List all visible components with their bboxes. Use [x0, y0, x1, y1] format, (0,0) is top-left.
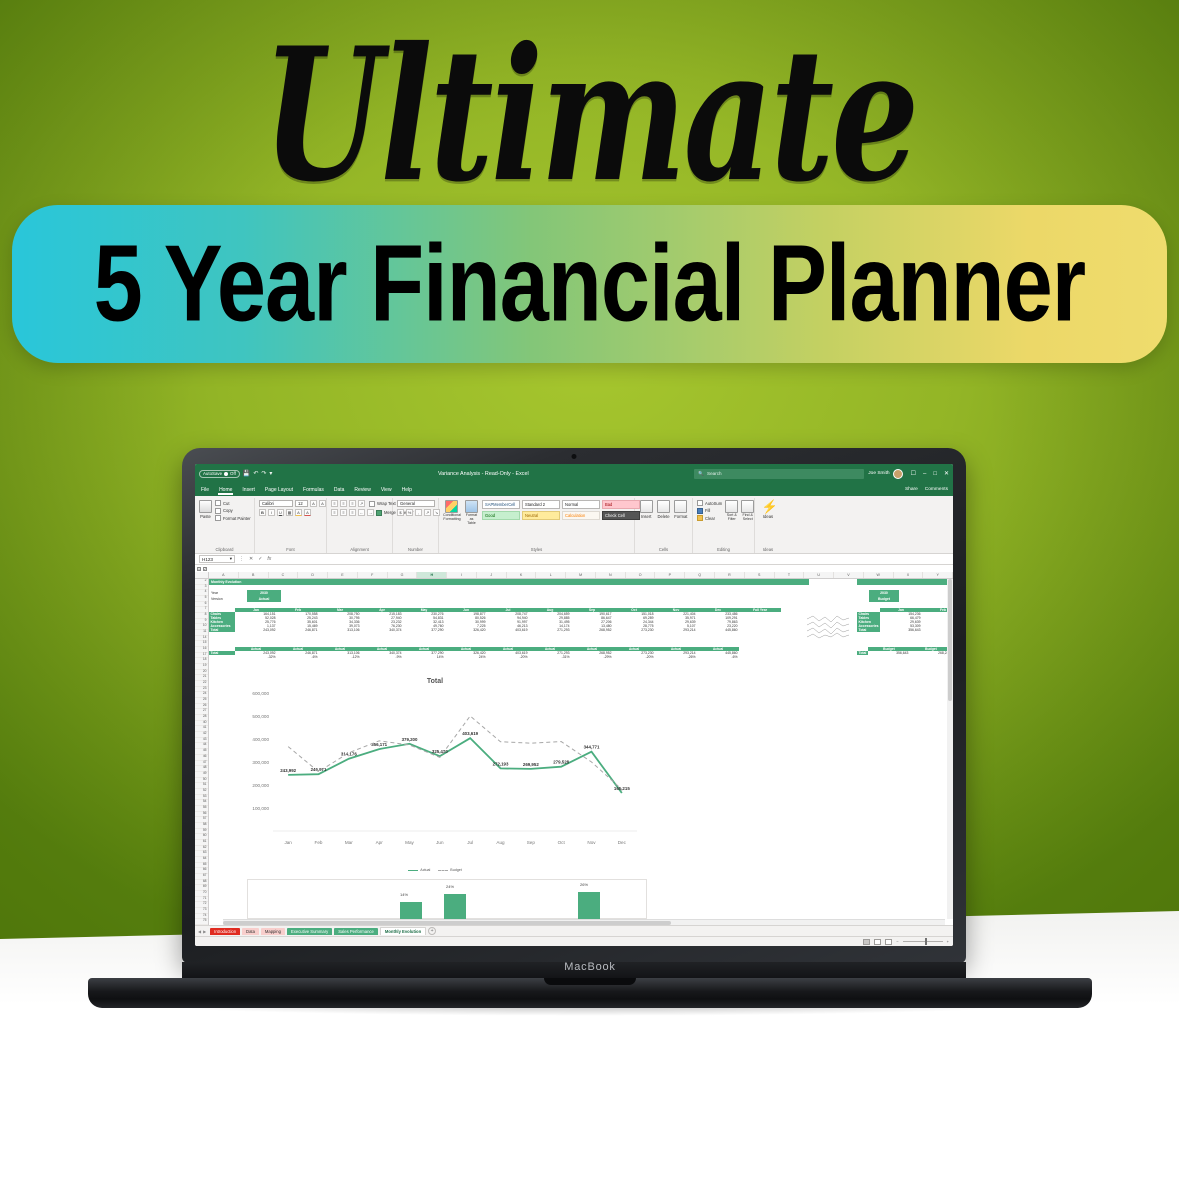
row-label-total: Total [857, 628, 880, 632]
name-box[interactable]: H123 ▾ [199, 555, 235, 563]
outline-level-bar[interactable]: 1 2 [195, 565, 953, 572]
data-label: 246,971 [311, 767, 327, 772]
number-format-select[interactable]: General [397, 500, 435, 507]
data-cell[interactable]: 268,246 [910, 651, 952, 655]
formula-divider: ⋮ [238, 556, 245, 562]
data-cell[interactable]: 273,230 [613, 628, 655, 632]
data-cell[interactable]: 268,952 [571, 628, 613, 632]
comma-icon[interactable]: , [415, 509, 422, 516]
spreadsheet-grid[interactable]: 1 2 ABCDEFGHIJKLMNOPQRSTUVWXY 2345678910… [195, 565, 953, 925]
increase-indent-icon[interactable]: → [367, 509, 374, 516]
currency-icon[interactable]: $ [397, 509, 404, 516]
excel-window: AutoSave Off 💾 ↶ ↷ ▾ Variance Analysis -… [195, 464, 953, 946]
delete-label: Delete [657, 514, 669, 519]
data-label: 165,215 [614, 786, 630, 791]
share-button[interactable]: Share [905, 487, 918, 492]
variance-pct-cell[interactable]: -12% [319, 655, 361, 659]
format-as-table-label: Format as Table [465, 514, 478, 526]
variance-pct-cell[interactable]: -9% [361, 655, 403, 659]
sheet-content[interactable]: Monthly Evolution Year Version 2030 Actu… [209, 579, 953, 925]
data-label: 279,528 [553, 760, 569, 765]
y-axis-tick-label: 500,000 [252, 714, 269, 719]
ribbon-right-actions[interactable]: Share Comments [905, 487, 948, 492]
fill-color-icon[interactable]: A [295, 509, 302, 516]
ribbon-group-editing: AutoSum Fill Clear Sort & Filter Find & … [693, 498, 755, 553]
tab-review[interactable]: Review [353, 487, 371, 493]
conditional-formatting-icon [445, 500, 458, 513]
data-label: 325,420 [432, 749, 448, 754]
variance-pct-cell[interactable]: -29% [571, 655, 613, 659]
device-label: MacBook [88, 961, 1092, 973]
search-input[interactable]: 🔍 Search [694, 469, 864, 479]
function-icon[interactable]: fx [266, 556, 272, 562]
select-all-corner[interactable] [195, 572, 209, 578]
sheet-tab-data[interactable]: Data [242, 928, 259, 935]
bold-button[interactable]: B [259, 509, 266, 516]
paintbrush-icon [215, 515, 221, 521]
find-select-button[interactable]: Find & Select [741, 500, 754, 522]
percent-icon[interactable]: % [406, 509, 413, 516]
window-controls[interactable]: ☐ – □ ✕ [907, 470, 949, 477]
quick-access-toolbar[interactable]: AutoSave Off 💾 ↶ ↷ ▾ [199, 470, 272, 478]
wrap-text-button[interactable]: Wrap Text [369, 501, 396, 507]
row-headers[interactable]: 2345678910111415161718192021222324252627… [195, 579, 209, 925]
sheet-nav-next-icon[interactable]: ▶ [203, 929, 206, 934]
format-painter-button[interactable]: Format Painter [215, 515, 251, 521]
grid-body[interactable]: 2345678910111415161718192021222324252627… [195, 579, 953, 925]
sort-filter-icon [725, 500, 738, 513]
account-area[interactable]: Joe Smith [868, 469, 902, 479]
autosave-label: AutoSave [203, 471, 222, 476]
formula-input[interactable] [275, 555, 949, 563]
cell-style-calculation[interactable]: Calculation [562, 511, 600, 520]
magnifier-icon [741, 500, 754, 513]
sheet-tab-sales-performance[interactable]: Sales Performance [334, 928, 378, 935]
data-cell[interactable]: 445,860 [697, 628, 739, 632]
variance-budget-table-inner[interactable]: BudgetBudgetBudgetBudgetBudgetBudgetBudg… [857, 647, 953, 655]
borders-icon[interactable]: ▦ [286, 509, 293, 516]
variance-budget-table[interactable]: BudgetBudgetBudgetBudgetBudgetBudgetBudg… [857, 647, 953, 655]
column-headers[interactable]: ABCDEFGHIJKLMNOPQRSTUVWXY [195, 572, 953, 579]
format-as-table-icon [465, 500, 478, 513]
status-bar[interactable]: − + [195, 936, 953, 946]
variance-pct-cell[interactable]: 24% [445, 655, 487, 659]
year-label: Year [211, 591, 218, 595]
excel-title-bar: AutoSave Off 💾 ↶ ↷ ▾ Variance Analysis -… [195, 464, 953, 483]
data-cell[interactable]: 356,643 [880, 628, 922, 632]
variance-pct-cell[interactable]: -20% [613, 655, 655, 659]
sheet-tab-bar[interactable]: ◀ ▶ Introduction Data Mapping Executive … [195, 925, 953, 936]
bar-label-24: 24% [446, 884, 454, 889]
sheet-tab-mapping[interactable]: Mapping [261, 928, 285, 935]
variance-pct-cell[interactable]: -32% [235, 655, 277, 659]
month-header-full-year: Full Year [739, 608, 781, 612]
paste-label: Paste [200, 514, 211, 519]
formula-bar[interactable]: H123 ▾ ⋮ ✕ ✓ fx [195, 554, 953, 565]
data-label: 272,193 [493, 761, 509, 766]
column-header-s[interactable]: S [745, 572, 775, 578]
find-select-label: Find & Select [741, 514, 754, 522]
data-cell[interactable]: 271,293 [529, 628, 571, 632]
sort-filter-label: Sort & Filter [725, 514, 738, 522]
format-painter-label: Format Painter [223, 516, 251, 521]
vertical-scrollbar[interactable] [947, 579, 953, 919]
enter-icon[interactable]: ✓ [257, 556, 263, 562]
column-header-p[interactable]: P [655, 572, 685, 578]
maximize-button[interactable]: □ [933, 471, 937, 477]
lightbulb-icon: ⚡ [762, 500, 775, 513]
column-header-c[interactable]: C [269, 572, 299, 578]
paste-icon [199, 500, 212, 513]
font-group-label: Font [259, 547, 322, 553]
page-layout-view-icon[interactable] [874, 939, 881, 945]
column-header-g[interactable]: G [388, 572, 418, 578]
copy-label: Copy [223, 508, 233, 513]
chart-series-budget[interactable] [288, 716, 622, 789]
fill-button[interactable]: Fill [697, 508, 722, 514]
variance-pct-cell[interactable]: -20% [487, 655, 529, 659]
sheet-tab-introduction[interactable]: Introduction [210, 928, 240, 935]
cell-style-good[interactable]: Good [482, 511, 520, 520]
sort-filter-button[interactable]: Sort & Filter [725, 500, 738, 522]
cells-group-label: Cells [639, 547, 688, 553]
ideas-button[interactable]: ⚡ Ideas [759, 500, 777, 519]
tab-page-layout[interactable]: Page Layout [264, 487, 294, 493]
document-title: Variance Analysis - Read-Only - Excel [276, 471, 690, 477]
data-cell[interactable]: 356,643 [868, 651, 910, 655]
data-cell[interactable]: 377,290 [403, 628, 445, 632]
x-axis-tick-label: Feb [315, 840, 323, 845]
cut-button[interactable]: Cut [215, 500, 251, 506]
align-right-icon[interactable]: ≡ [349, 509, 356, 516]
subtitle-banner: 5 Year Financial Planner [12, 205, 1167, 363]
data-cell[interactable]: 243,092 [235, 628, 277, 632]
data-cell[interactable]: 246,871 [277, 628, 319, 632]
data-label: 379,200 [402, 737, 418, 742]
underline-button[interactable]: U [277, 509, 284, 516]
legend-item-budget[interactable]: Budget [438, 868, 461, 872]
variance-total-row[interactable]: Total356,643268,246353,880385,294331,416… [857, 651, 953, 655]
row-header-75[interactable]: 75 [195, 919, 208, 925]
merge-icon [376, 510, 382, 516]
column-header-u[interactable]: U [804, 572, 834, 578]
align-top-icon[interactable]: ≡ [331, 500, 338, 507]
scissors-icon [215, 500, 221, 506]
editing-group-label: Editing [697, 547, 750, 553]
sheet-tab-monthly-evolution[interactable]: Monthly Evolution [380, 927, 426, 935]
block-title-right [857, 579, 953, 585]
format-label: Format [674, 514, 687, 519]
align-middle-icon[interactable]: ≡ [340, 500, 347, 507]
x-axis-tick-label: Jun [436, 840, 444, 845]
x-axis-tick-label: Sep [527, 840, 536, 845]
ribbon-group-clipboard: Paste Cut Copy Format Painter Clipboard [195, 498, 255, 553]
laptop-base-notch [544, 978, 636, 985]
autosave-toggle[interactable]: AutoSave Off [199, 470, 240, 478]
conditional-formatting-label: Conditional Formatting [443, 514, 461, 522]
outline-level-2-button[interactable]: 2 [203, 567, 207, 571]
data-cell[interactable]: 403,619 [487, 628, 529, 632]
bar-label-26: 26% [580, 882, 588, 887]
align-bottom-icon[interactable]: ≡ [349, 500, 356, 507]
format-as-table-button[interactable]: Format as Table [465, 500, 478, 526]
eraser-icon [697, 515, 703, 521]
column-header-f[interactable]: F [358, 572, 388, 578]
bar-label-14: 14% [400, 892, 408, 897]
tab-help[interactable]: Help [401, 487, 413, 493]
clipboard-group-label: Clipboard [199, 547, 250, 553]
font-size-select[interactable]: 12 [295, 500, 308, 507]
page-title-script: Ultimate [47, 24, 1132, 207]
ribbon-group-styles: Conditional Formatting Format as Table S… [439, 498, 635, 553]
chart-series-actual[interactable] [288, 738, 622, 793]
chart-plot-area: 100,000200,000300,000400,000500,000600,0… [225, 685, 645, 865]
tab-data[interactable]: Data [333, 487, 346, 493]
total-line-chart[interactable]: Total 100,000200,000300,000400,000500,00… [225, 674, 645, 879]
budget-version-value[interactable]: Budget [869, 596, 899, 602]
blank-cell [209, 655, 235, 659]
x-axis-tick-label: Apr [376, 840, 384, 845]
tab-insert[interactable]: Insert [241, 487, 256, 493]
x-axis-tick-label: Mar [345, 840, 353, 845]
ideas-group-label: Ideas [759, 547, 777, 553]
variance-bar-chart[interactable]: 14% 24% 26% [247, 879, 647, 919]
autosave-state: Off [230, 471, 236, 476]
decrease-indent-icon[interactable]: ← [358, 509, 365, 516]
sheet-nav-arrows[interactable]: ◀ ▶ [198, 929, 208, 934]
chart-title: Total [225, 674, 645, 685]
variance-pct-cell[interactable]: -26% [655, 655, 697, 659]
x-axis-tick-label: Jul [467, 840, 473, 845]
table-row[interactable]: Total356,643268,246353,880385,294331,416… [857, 628, 953, 632]
avatar[interactable] [893, 469, 903, 479]
autosum-button[interactable]: AutoSum [697, 500, 722, 506]
x-axis-tick-label: Oct [558, 840, 566, 845]
sparklines-group [807, 613, 853, 639]
user-name: Joe Smith [868, 471, 889, 476]
y-axis-tick-label: 300,000 [252, 760, 269, 765]
ribbon-tab-bar[interactable]: File Home Insert Page Layout Formulas Da… [195, 483, 953, 496]
ribbon-group-alignment: ≡ ≡ ≡ ↗ Wrap Text ≡ ≡ ≡ ← [327, 498, 393, 553]
number-group-label: Number [397, 547, 434, 553]
sheet-tab-executive-summary[interactable]: Executive Summary [287, 928, 332, 935]
column-header-d[interactable]: D [298, 572, 328, 578]
vertical-scroll-thumb[interactable] [948, 579, 952, 701]
budget-table[interactable]: JanFebMarAprMayJunJulAugSepOctNovDecChai… [857, 608, 953, 632]
column-header-t[interactable]: T [775, 572, 805, 578]
copy-icon [215, 508, 221, 514]
column-header-i[interactable]: I [447, 572, 477, 578]
fill-label: Fill [705, 508, 710, 513]
column-header-v[interactable]: V [834, 572, 864, 578]
save-icon[interactable]: 💾 [243, 470, 250, 477]
column-header-k[interactable]: K [507, 572, 537, 578]
autosum-label: AutoSum [705, 501, 722, 506]
font-color-icon[interactable]: A [304, 509, 311, 516]
data-label: 403,619 [462, 731, 478, 736]
data-label: 314,176 [341, 752, 357, 757]
shrink-font-icon[interactable]: A [319, 500, 326, 507]
clear-label: Clear [705, 516, 715, 521]
data-cell[interactable]: 340,374 [361, 628, 403, 632]
data-label: 243,992 [280, 768, 296, 773]
align-left-icon[interactable]: ≡ [331, 509, 338, 516]
cancel-icon[interactable]: ✕ [248, 556, 254, 562]
copy-button[interactable]: Copy [215, 508, 251, 514]
ribbon-group-ideas: ⚡ Ideas Ideas [755, 498, 781, 553]
table-row[interactable]: Total243,092246,871313,106340,374377,290… [209, 628, 781, 632]
zoom-slider[interactable] [903, 941, 943, 942]
alignment-group-label: Alignment [331, 547, 388, 553]
insert-cells-button[interactable]: Insert [639, 500, 653, 519]
ribbon-display-icon[interactable]: ☐ [911, 470, 916, 477]
column-header-o[interactable]: O [626, 572, 656, 578]
x-axis-tick-label: Nov [587, 840, 596, 845]
column-header-r[interactable]: R [715, 572, 745, 578]
paste-button[interactable]: Paste [199, 500, 212, 519]
legend-line-actual-icon [408, 870, 418, 871]
increase-decimal-icon[interactable]: ↗ [424, 509, 431, 516]
cell-style-neutral[interactable]: Neutral [522, 511, 560, 520]
delete-icon [657, 500, 670, 513]
column-header-l[interactable]: L [536, 572, 566, 578]
normal-view-icon[interactable] [863, 939, 870, 945]
cell-style-sapmembercell[interactable]: SAPMemberCell [482, 500, 520, 509]
horizontal-scroll-thumb[interactable] [223, 921, 671, 925]
page-break-view-icon[interactable] [885, 939, 892, 945]
legend-item-actual[interactable]: Actual [408, 868, 430, 872]
column-header-y[interactable]: Y [923, 572, 953, 578]
plus-circle-icon[interactable]: + [428, 927, 436, 935]
variance-pct-row[interactable]: -32%-6%-12%-9%14%24%-20%-31%-29%-20%-26%… [209, 655, 739, 659]
laptop-base: MacBook [88, 978, 1092, 1008]
tab-view[interactable]: View [380, 487, 393, 493]
data-label: 344,771 [584, 745, 600, 750]
zoom-out-button[interactable]: − [896, 939, 898, 944]
y-axis-tick-label: 100,000 [252, 806, 269, 811]
sheet-nav-prev-icon[interactable]: ◀ [198, 929, 201, 934]
conditional-formatting-button[interactable]: Conditional Formatting [443, 500, 461, 522]
x-axis-tick-label: Jan [284, 840, 292, 845]
ribbon-group-cells: Insert Delete Format Cells [635, 498, 693, 553]
format-icon [674, 500, 687, 513]
variance-pct-cell[interactable]: 14% [403, 655, 445, 659]
column-header-q[interactable]: Q [685, 572, 715, 578]
zoom-in-button[interactable]: + [947, 939, 949, 944]
data-cell[interactable]: 326,420 [445, 628, 487, 632]
tab-file[interactable]: File [200, 487, 210, 493]
budget-data-table[interactable]: JanFebMarAprMayJunJulAugSepOctNovDecChai… [857, 608, 953, 632]
undo-icon[interactable]: ↶ [253, 470, 258, 477]
variance-pct-cell[interactable]: -31% [529, 655, 571, 659]
horizontal-scrollbar[interactable] [223, 919, 945, 925]
y-axis-tick-label: 600,000 [252, 691, 269, 696]
search-placeholder: Search [707, 471, 722, 476]
data-cell[interactable]: 313,106 [319, 628, 361, 632]
cell-style-standard-2[interactable]: Standard 2 [522, 500, 560, 509]
chevron-down-icon[interactable]: ▾ [269, 470, 272, 477]
legend-label-actual: Actual [420, 868, 430, 872]
clear-button[interactable]: Clear [697, 515, 722, 521]
styles-group-label: Styles [443, 547, 630, 553]
insert-label: Insert [641, 514, 651, 519]
italic-button[interactable]: I [268, 509, 275, 516]
column-header-w[interactable]: W [864, 572, 894, 578]
search-icon: 🔍 [698, 471, 704, 477]
font-name-select[interactable]: Calibri [259, 500, 293, 507]
data-cell[interactable]: 293,214 [655, 628, 697, 632]
close-button[interactable]: ✕ [944, 470, 949, 477]
redo-icon[interactable]: ↷ [261, 470, 266, 477]
variance-pct-cell[interactable]: -6% [277, 655, 319, 659]
chevron-down-icon[interactable]: ▾ [230, 556, 232, 562]
ideas-label: Ideas [763, 514, 773, 519]
actual-data-table[interactable]: JanFebMarAprMayJunJulAugSepOctNovDecFull… [209, 608, 781, 632]
tab-formulas[interactable]: Formulas [302, 487, 325, 493]
banner-title: 5 Year Financial Planner [94, 222, 1086, 346]
column-header-e[interactable]: E [328, 572, 358, 578]
variance-table[interactable]: ActualActualActualActualActualActualActu… [209, 647, 739, 659]
laptop-screen: AutoSave Off 💾 ↶ ↷ ▾ Variance Analysis -… [195, 464, 953, 946]
column-header-b[interactable]: B [239, 572, 269, 578]
actual-table[interactable]: JanFebMarAprMayJunJulAugSepOctNovDecFull… [209, 608, 781, 632]
orientation-icon[interactable]: ↗ [358, 500, 365, 507]
fill-icon [697, 508, 703, 514]
name-box-value: H123 [202, 557, 213, 562]
ribbon[interactable]: Paste Cut Copy Format Painter Clipboard [195, 496, 953, 554]
column-header-m[interactable]: M [566, 572, 596, 578]
wrap-text-icon [369, 501, 375, 507]
comments-button[interactable]: Comments [925, 487, 948, 492]
outline-level-1-button[interactable]: 1 [197, 567, 201, 571]
tab-home[interactable]: Home [218, 487, 233, 493]
column-header-j[interactable]: J [477, 572, 507, 578]
grow-font-icon[interactable]: A [310, 500, 317, 507]
column-header-x[interactable]: X [894, 572, 924, 578]
column-header-h[interactable]: H [417, 572, 447, 578]
row-label-total: Total [857, 651, 868, 655]
column-header-a[interactable]: A [209, 572, 239, 578]
variance-pct-cell[interactable]: -6% [697, 655, 739, 659]
x-axis-tick-label: Dec [618, 840, 627, 845]
column-header-n[interactable]: N [596, 572, 626, 578]
cell-style-normal[interactable]: Normal [562, 500, 600, 509]
version-value[interactable]: Actual [247, 596, 281, 602]
version-label: Version [211, 597, 223, 601]
x-axis-tick-label: May [405, 840, 414, 845]
align-center-icon[interactable]: ≡ [340, 509, 347, 516]
legend-label-budget: Budget [450, 868, 461, 872]
y-axis-tick-label: 400,000 [252, 737, 269, 742]
macbook-mockup: AutoSave Off 💾 ↶ ↷ ▾ Variance Analysis -… [88, 448, 1092, 1008]
data-label: 269,952 [523, 762, 539, 767]
insert-icon [640, 500, 653, 513]
block-title: Monthly Evolution [209, 579, 809, 585]
minimize-button[interactable]: – [923, 471, 926, 477]
laptop-lid: AutoSave Off 💾 ↶ ↷ ▾ Variance Analysis -… [182, 448, 966, 963]
delete-cells-button[interactable]: Delete [656, 500, 670, 519]
ribbon-group-number: General $ % , ↗ ↘ Number [393, 498, 439, 553]
variance-table-inner[interactable]: ActualActualActualActualActualActualActu… [209, 647, 739, 659]
chart-legend[interactable]: Actual Budget [225, 868, 645, 872]
ribbon-group-font: Calibri 12 A A B I U ▦ A A [255, 498, 327, 553]
legend-line-budget-icon [438, 870, 448, 871]
format-cells-button[interactable]: Format [674, 500, 688, 519]
autosave-knob-icon [224, 472, 228, 476]
y-axis-tick-label: 200,000 [252, 783, 269, 788]
cut-label: Cut [223, 501, 230, 506]
row-label-total: Total [209, 628, 235, 632]
